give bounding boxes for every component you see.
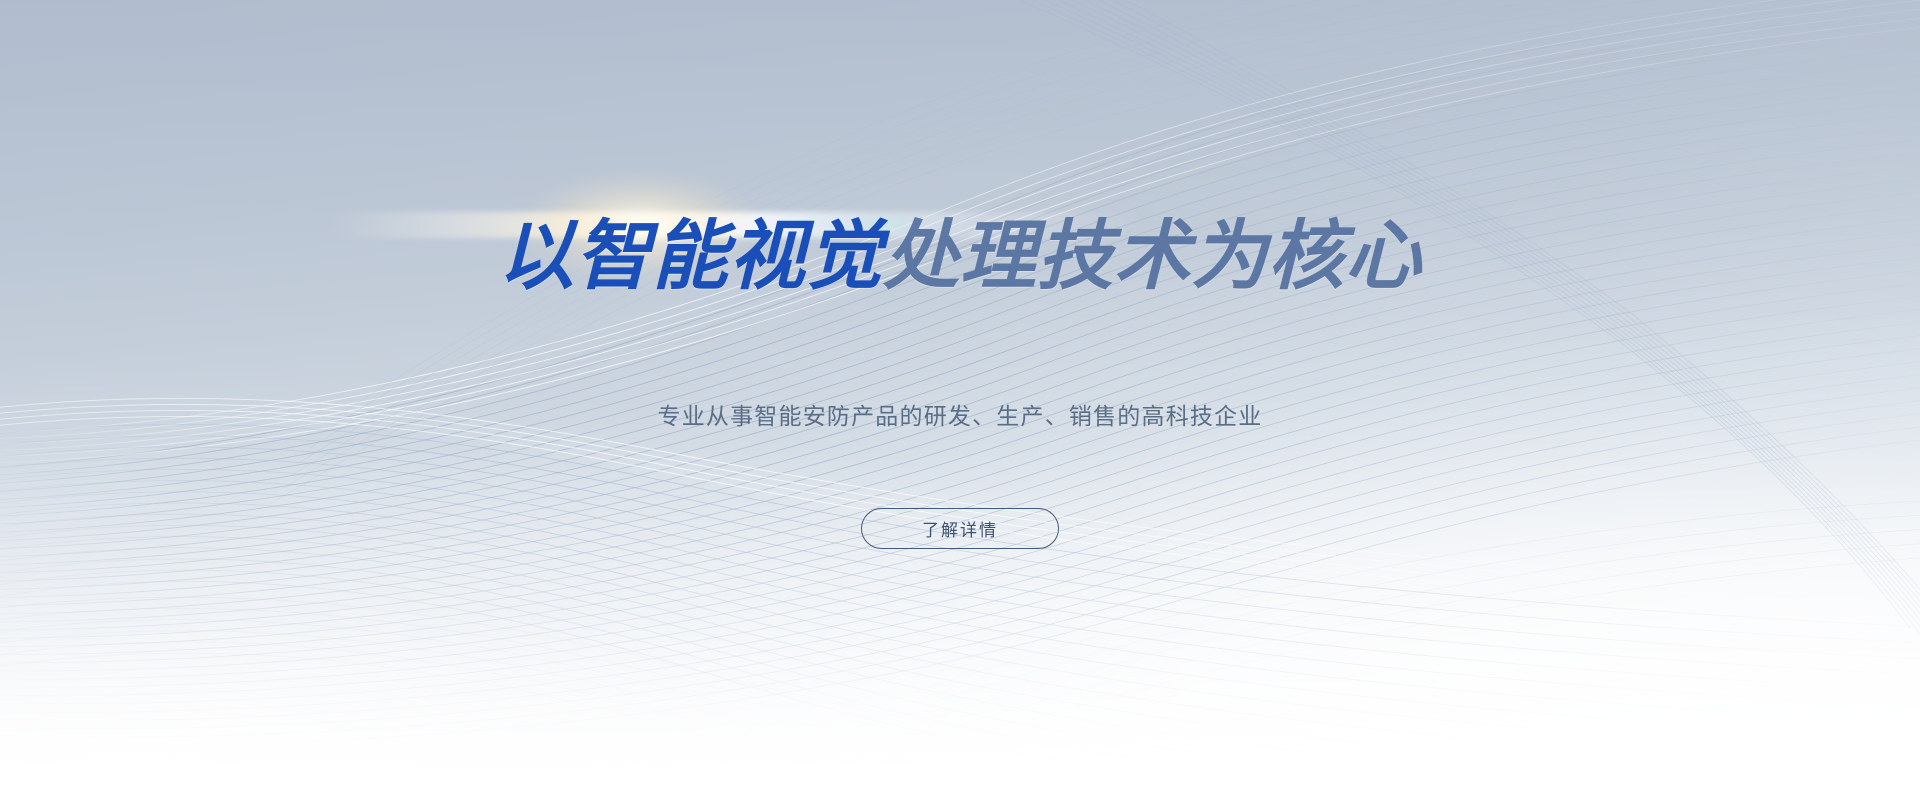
- page-title-remainder: 处理技术为核心: [883, 211, 1422, 300]
- learn-more-button[interactable]: 了解详情: [861, 508, 1059, 549]
- page-title: 以智能视觉处理技术为核心: [0, 218, 1920, 294]
- hero-banner: 以智能视觉处理技术为核心 专业从事智能安防产品的研发、生产、销售的高科技企业 了…: [0, 0, 1920, 800]
- page-subtitle: 专业从事智能安防产品的研发、生产、销售的高科技企业: [0, 400, 1920, 432]
- page-title-emphasis: 以智能视觉: [498, 211, 883, 300]
- hero-content: 以智能视觉处理技术为核心 专业从事智能安防产品的研发、生产、销售的高科技企业 了…: [0, 0, 1920, 800]
